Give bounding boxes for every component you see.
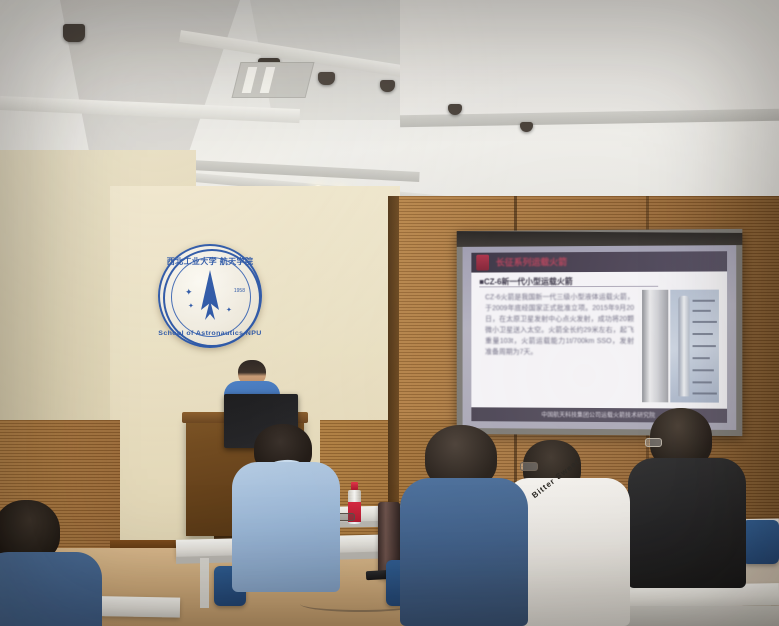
screen-top-bar xyxy=(457,229,743,247)
student-blue-shirt xyxy=(400,478,528,626)
projection-screen: 长征系列运载火箭 ■CZ-6新一代小型运载火箭 CZ-6火箭是我国新一代三级小型… xyxy=(457,229,743,436)
slide-images xyxy=(642,290,719,403)
slide-logo-icon xyxy=(476,255,489,271)
eyeglasses-icon xyxy=(645,438,662,447)
student-foreground-left xyxy=(0,552,102,626)
rocket-icon xyxy=(198,270,222,322)
lecture-hall-photo: 西北工业大学 航天学院 School of Astronautics NPU 1… xyxy=(0,0,779,626)
rocket-photo-image xyxy=(642,290,668,403)
chair xyxy=(742,520,779,564)
star-icon: ✦ xyxy=(185,288,193,297)
emblem-chinese-text: 西北工业大学 航天学院 xyxy=(158,256,262,267)
emblem-year: 1958 xyxy=(234,288,245,294)
slide-paragraph: CZ-6火箭是我国新一代三级小型液体运载火箭，于2009年底经国家正式批准立项。… xyxy=(485,292,634,358)
slide-title-bar: 长征系列运载火箭 xyxy=(471,251,727,272)
wall-corner xyxy=(388,196,399,526)
ceiling-speaker-icon xyxy=(318,72,335,85)
school-emblem: 西北工业大学 航天学院 School of Astronautics NPU 1… xyxy=(158,244,262,348)
slide-divider xyxy=(479,286,658,288)
ceiling-speaker-icon xyxy=(520,122,533,132)
ceiling-speaker-icon xyxy=(63,24,85,42)
presentation-slide: 长征系列运载火箭 ■CZ-6新一代小型运载火箭 CZ-6火箭是我国新一代三级小型… xyxy=(471,251,727,423)
star-icon: ✦ xyxy=(188,302,194,311)
star-icon: ✦ xyxy=(226,306,232,315)
emblem-english-text: School of Astronautics NPU xyxy=(158,330,262,336)
student-light-blue-shirt xyxy=(232,462,340,592)
screen-surface: 长征系列运载火箭 ■CZ-6新一代小型运载火箭 CZ-6火箭是我国新一代三级小型… xyxy=(463,245,737,430)
eyeglasses-icon xyxy=(520,462,538,471)
rocket-diagram-image xyxy=(670,290,719,403)
slide-body: ■CZ-6新一代小型运载火箭 CZ-6火箭是我国新一代三级小型液体运载火箭，于2… xyxy=(471,271,727,408)
slide-title: 长征系列运载火箭 xyxy=(496,255,675,270)
ceiling-light-fixture xyxy=(232,62,315,98)
student-black-tshirt xyxy=(628,458,746,588)
